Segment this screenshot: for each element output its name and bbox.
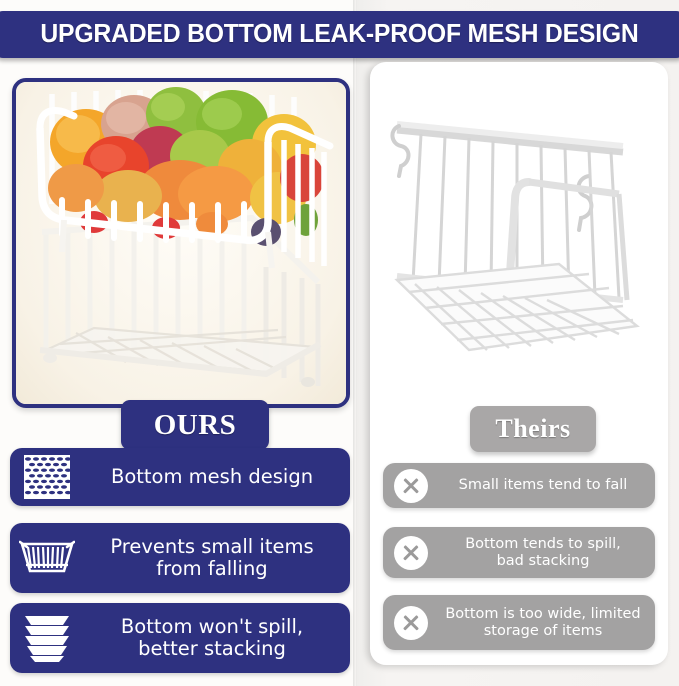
ours-product-photo [12,78,350,408]
x-circle-icon [383,527,439,578]
x-circle-icon [383,463,439,508]
theirs-basket-illustration [383,78,655,408]
ours-basket-illustration [16,82,346,404]
header-banner: UPGRADED BOTTOM LEAK-PROOF MESH DESIGN [0,11,679,58]
wire-basket-icon [10,523,84,593]
header-title: UPGRADED BOTTOM LEAK-PROOF MESH DESIGN [4,11,674,58]
theirs-product-photo [383,78,655,408]
ours-badge: OURS [121,400,269,450]
ours-feature-row: Bottom won't spill, better stacking [10,603,350,673]
theirs-feature-label: Bottom is too wide, limited storage of i… [439,606,655,639]
panel-divider [353,0,357,686]
ours-feature-label: Bottom mesh design [84,466,350,488]
theirs-feature-label: Small items tend to fall [439,477,655,494]
ours-feature-row: Prevents small items from falling [10,523,350,593]
ours-feature-label: Prevents small items from falling [84,536,350,580]
theirs-feature-label: Bottom tends to spill, bad stacking [439,536,655,569]
x-circle-glyph [394,536,428,570]
ours-feature-row: Bottom mesh design [10,448,350,506]
theirs-feature-row: Small items tend to fall [383,463,655,508]
ours-feature-label: Bottom won't spill, better stacking [84,616,350,660]
theirs-feature-row: Bottom is too wide, limited storage of i… [383,595,655,650]
mesh-pattern-icon [10,448,84,506]
x-circle-glyph [394,469,428,503]
x-circle-glyph [394,606,428,640]
x-circle-icon [383,595,439,650]
theirs-feature-row: Bottom tends to spill, bad stacking [383,527,655,578]
stacked-baskets-icon [10,603,84,673]
theirs-badge: Theirs [470,406,596,452]
infographic-root: UPGRADED BOTTOM LEAK-PROOF MESH DESIGN [0,0,679,686]
